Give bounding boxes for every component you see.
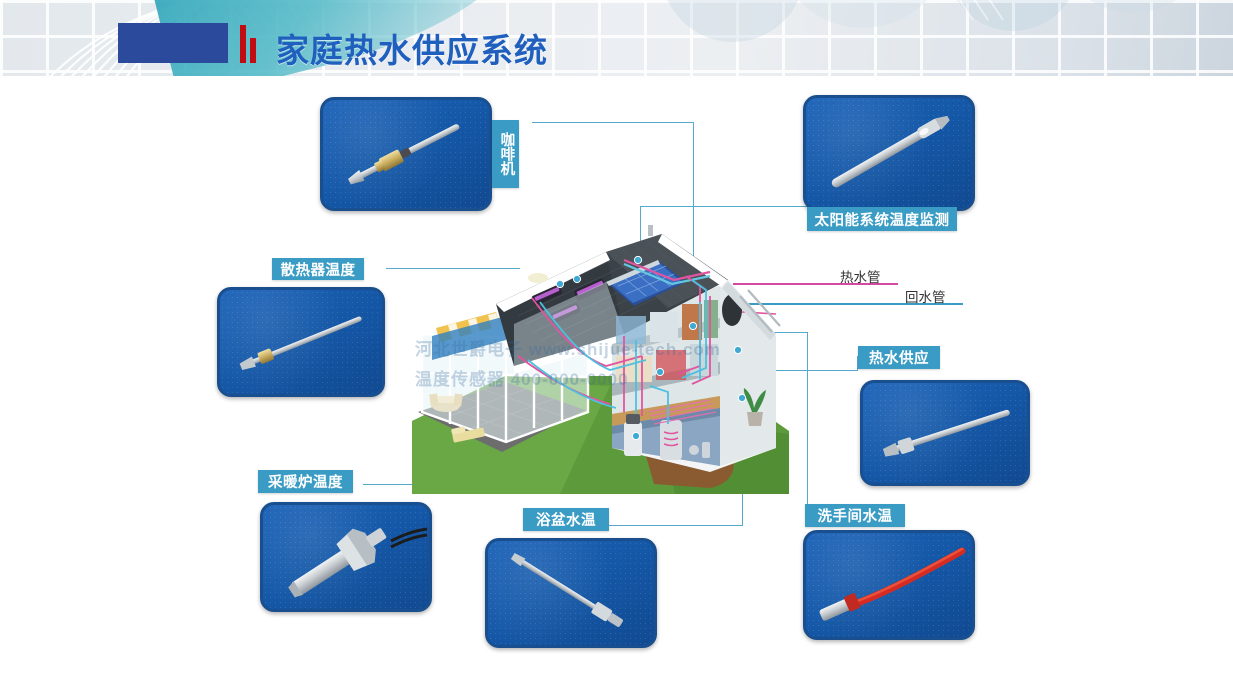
label-return-water-pipe: 回水管 [905, 286, 946, 306]
label-hot-water-supply[interactable]: 热水供应 [858, 346, 940, 369]
house-cutaway-illustration [410, 216, 791, 497]
photo-boiler-sensor[interactable] [260, 502, 432, 612]
header-blue-block [118, 23, 228, 63]
hex-nut-probe-black-cable-image [263, 505, 429, 609]
stainless-steel-probe-image [806, 98, 972, 208]
label-boiler-temp[interactable]: 采暖炉温度 [258, 470, 353, 493]
slide-header: 家庭热水供应系统 [0, 0, 1233, 76]
label-coffee-machine[interactable]: 咖啡机 [492, 120, 519, 188]
connector-bathroom-v1 [807, 332, 808, 504]
header-circles-decoration [613, 0, 1233, 76]
connector-solar-h1 [640, 206, 808, 207]
label-radiator-temp[interactable]: 散热器温度 [272, 258, 364, 280]
slim-probe-with-fitting-image [863, 383, 1027, 483]
label-hot-water-pipe: 热水管 [840, 266, 881, 286]
page-title: 家庭热水供应系统 [276, 24, 548, 72]
photo-bathroom-sensor[interactable] [803, 530, 975, 640]
photo-coffee-machine-sensor[interactable] [320, 97, 492, 211]
label-bathroom-temp[interactable]: 洗手间水温 [805, 504, 905, 527]
slide-canvas: 家庭热水供应系统 [0, 0, 1233, 691]
header-red-bars-icon [240, 25, 260, 63]
photo-bathtub-sensor[interactable] [485, 538, 657, 648]
label-solar-monitor[interactable]: 太阳能系统温度监测 [807, 207, 957, 231]
photo-radiator-sensor[interactable] [217, 287, 385, 397]
flat-probe-red-cable-image [806, 533, 972, 637]
connector-bathtub-h1 [597, 525, 743, 526]
photo-solar-system-sensor[interactable] [803, 95, 975, 211]
pin-type-probe-image [488, 541, 654, 645]
connector-coffee-h1 [532, 122, 694, 123]
brass-threaded-probe-image [323, 100, 489, 208]
long-slim-probe-image [220, 290, 382, 394]
photo-hot-water-sensor[interactable] [860, 380, 1030, 486]
label-bathtub-temp[interactable]: 浴盆水温 [523, 508, 609, 531]
